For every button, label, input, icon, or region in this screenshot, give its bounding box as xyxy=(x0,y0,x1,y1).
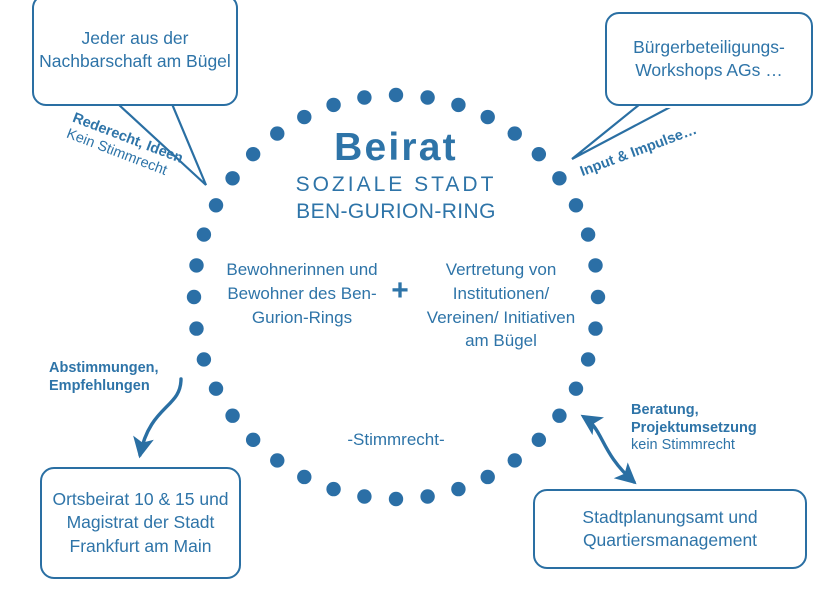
ring-dot xyxy=(389,492,403,506)
speech-bubble-participation-label: Bürgerbeteiligungs- Workshops AGs … xyxy=(607,36,811,82)
connector-label-beratung-regular: kein Stimmrecht xyxy=(631,437,757,455)
ring-dot xyxy=(552,171,566,185)
connector-label-abstimmungen-line2: Empfehlungen xyxy=(49,378,159,396)
center-column-institutions: Vertretung von Institutionen/ Vereinen/ … xyxy=(420,258,582,353)
center-footer-voting-right: -Stimmrecht- xyxy=(281,430,511,450)
ring-dot xyxy=(225,409,239,423)
arrow-beratung xyxy=(584,417,634,482)
ring-dot xyxy=(197,227,211,241)
speech-bubble-neighbourhood[interactable]: Jeder aus der Nachbarschaft am Bügel xyxy=(32,0,238,106)
ring-dot xyxy=(569,198,583,212)
ring-dot xyxy=(187,290,201,304)
subtitle-soziale-stadt: SOZIALE STADT xyxy=(246,174,546,196)
ring-dot xyxy=(591,290,605,304)
ring-dot xyxy=(532,433,546,447)
connector-label-beratung-line2: Projektumsetzung xyxy=(631,420,757,438)
ring-dot xyxy=(481,470,495,484)
ring-dot xyxy=(225,171,239,185)
ring-dot xyxy=(209,198,223,212)
ring-dot xyxy=(581,352,595,366)
connector-label-abstimmungen-line1: Abstimmungen, xyxy=(49,360,159,378)
box-stadtplanungsamt-quartiersmanagement-label: Stadtplanungsamt und Quartiersmanagement xyxy=(535,506,805,553)
ring-dot xyxy=(451,98,465,112)
connector-label-beratung-line1: Beratung, xyxy=(631,402,757,420)
ring-dot xyxy=(326,98,340,112)
ring-dot xyxy=(481,110,495,124)
ring-dot xyxy=(420,489,434,503)
box-ortsbeirat-magistrat-label: Ortsbeirat 10 & 15 und Magistrat der Sta… xyxy=(42,488,239,558)
box-ortsbeirat-magistrat[interactable]: Ortsbeirat 10 & 15 und Magistrat der Sta… xyxy=(40,467,241,579)
center-column-residents: Bewohnerinnen und Bewohner des Ben-Gurio… xyxy=(213,258,391,329)
ring-dot xyxy=(197,352,211,366)
plus-icon: + xyxy=(381,276,419,306)
ring-dot xyxy=(297,470,311,484)
ring-dot xyxy=(552,409,566,423)
ring-dot xyxy=(326,482,340,496)
subtitle-ben-gurion-ring: BEN-GURION-RING xyxy=(246,201,546,223)
box-stadtplanungsamt-quartiersmanagement[interactable]: Stadtplanungsamt und Quartiersmanagement xyxy=(533,489,807,569)
speech-bubble-participation[interactable]: Bürgerbeteiligungs- Workshops AGs … xyxy=(605,12,813,106)
ring-dot xyxy=(420,90,434,104)
connector-label-abstimmungen: Abstimmungen, Empfehlungen xyxy=(49,360,159,395)
page-title: Beirat xyxy=(246,128,546,167)
ring-dot xyxy=(209,382,223,396)
ring-dot xyxy=(451,482,465,496)
speech-bubble-neighbourhood-label: Jeder aus der Nachbarschaft am Bügel xyxy=(34,27,236,73)
ring-dot xyxy=(581,227,595,241)
ring-dot xyxy=(389,88,403,102)
ring-dot xyxy=(357,90,371,104)
ring-dot xyxy=(189,258,203,272)
ring-dot xyxy=(357,489,371,503)
diagram-canvas: Beirat SOZIALE STADT BEN-GURION-RING Bew… xyxy=(0,0,820,600)
ring-dot xyxy=(588,258,602,272)
ring-dot xyxy=(270,453,284,467)
ring-dot xyxy=(246,433,260,447)
ring-dot xyxy=(569,382,583,396)
connector-label-beratung: Beratung, Projektumsetzung kein Stimmrec… xyxy=(631,402,757,455)
ring-dot xyxy=(297,110,311,124)
ring-dot xyxy=(588,321,602,335)
ring-dot xyxy=(189,321,203,335)
ring-dot xyxy=(508,453,522,467)
